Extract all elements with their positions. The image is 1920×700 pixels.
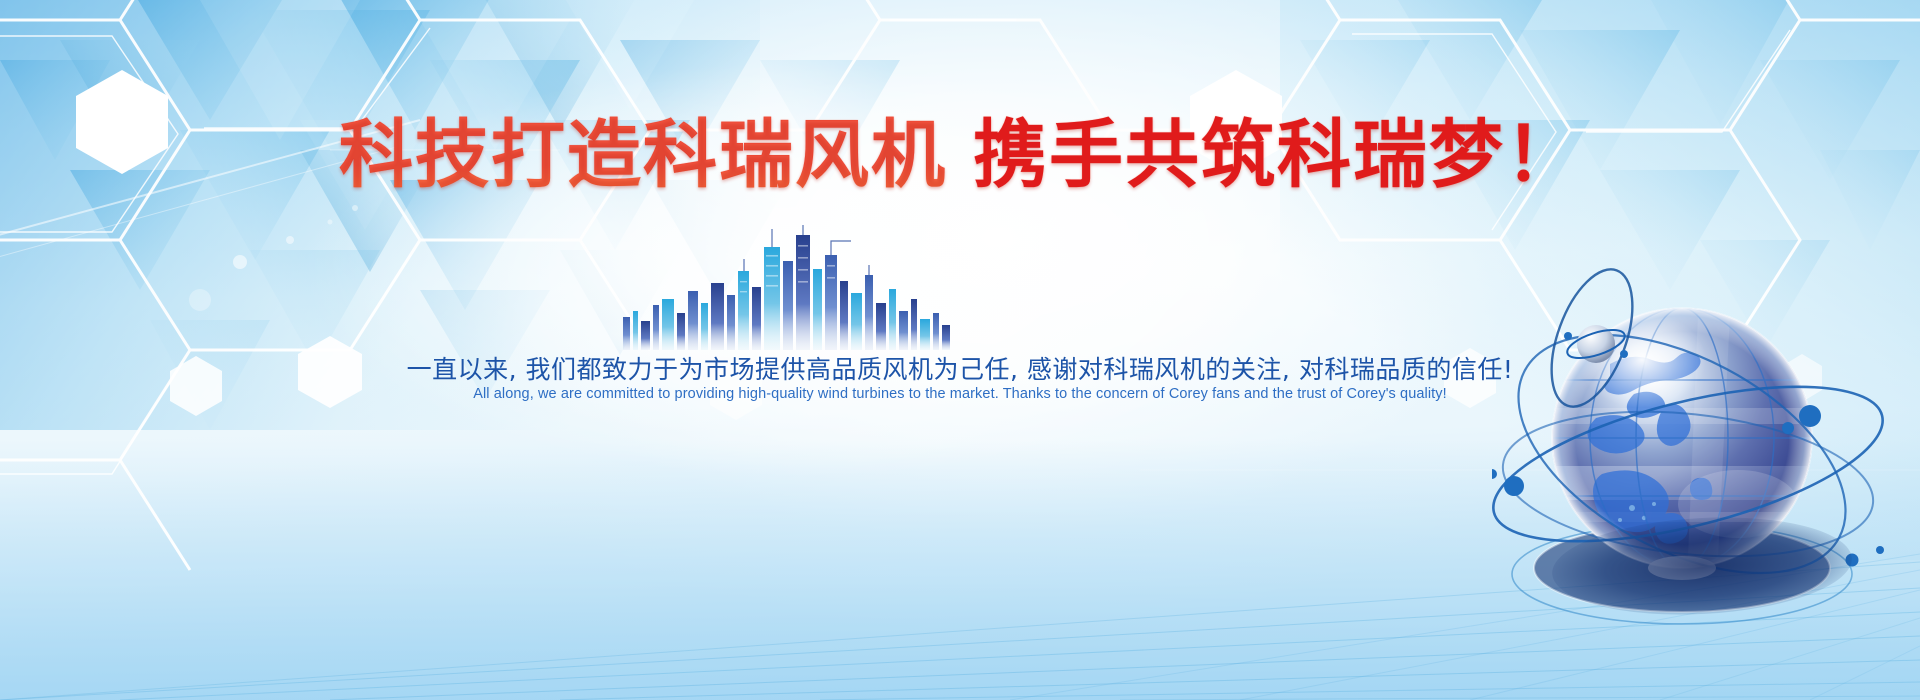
headline-part-primary: 科技打造科瑞风机 [339, 112, 947, 198]
headline-part-secondary: 携手共筑科瑞梦！ [973, 112, 1581, 198]
chrome-globe-graphic [1492, 268, 1920, 668]
city-skyline-illustration [615, 225, 965, 350]
banner-headline: 科技打造科瑞风机携手共筑科瑞梦！ [0, 118, 1920, 192]
promo-banner: 科技打造科瑞风机携手共筑科瑞梦！ [0, 0, 1920, 700]
sparkle-dots [189, 205, 358, 311]
